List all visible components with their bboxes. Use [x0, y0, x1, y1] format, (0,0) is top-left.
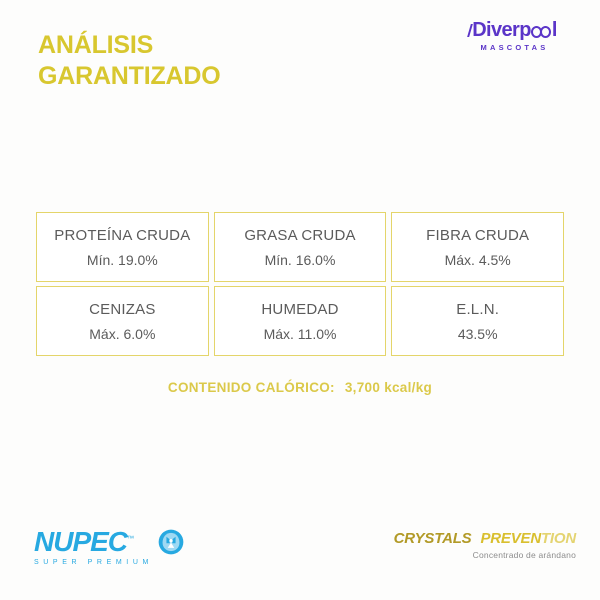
analysis-cell-moisture: HUMEDAD Máx. 11.0%	[214, 286, 387, 356]
page-title: ANÁLISIS GARANTIZADO	[38, 30, 221, 91]
analysis-cell-ash: CENIZAS Máx. 6.0%	[36, 286, 209, 356]
guaranteed-analysis-table: PROTEÍNA CRUDA Mín. 19.0% GRASA CRUDA Mí…	[36, 212, 564, 356]
nupec-word-text: NUPEC	[34, 526, 127, 557]
analysis-cell-eln: E.L.N. 43.5%	[391, 286, 564, 356]
diverpool-wordmark: Diverpl	[469, 20, 557, 40]
nupec-logo: NUPEC™ SUPER PREMIUM	[34, 528, 184, 566]
cell-label: FIBRA CRUDA	[426, 227, 529, 244]
cell-value: Mín. 16.0%	[265, 252, 336, 268]
crystals-wordmark: CRYSTALSPREVENTION	[394, 530, 576, 547]
analysis-cell-fiber: FIBRA CRUDA Máx. 4.5%	[391, 212, 564, 282]
diverpool-logo: Diverpl MASCOTAS	[448, 20, 578, 52]
prevention-word-part-2: TION	[541, 530, 576, 547]
cell-value: Máx. 11.0%	[264, 326, 337, 342]
nupec-wordmark: NUPEC™	[34, 528, 153, 556]
diverpool-subtitle: MASCOTAS	[451, 43, 578, 52]
prevention-word-part-1: PREVEN	[480, 530, 541, 547]
diverpool-name-part-2: l	[552, 19, 557, 41]
cell-value: Máx. 4.5%	[445, 252, 511, 268]
cell-label: E.L.N.	[456, 301, 499, 318]
cell-label: HUMEDAD	[261, 301, 338, 318]
cell-label: GRASA CRUDA	[244, 227, 355, 244]
caloric-label: CONTENIDO CALÓRICO:	[168, 380, 335, 395]
table-row: PROTEÍNA CRUDA Mín. 19.0% GRASA CRUDA Mí…	[36, 212, 564, 282]
analysis-cell-fat: GRASA CRUDA Mín. 16.0%	[214, 212, 387, 282]
nupec-subtitle: SUPER PREMIUM	[34, 559, 153, 566]
crystals-word: CRYSTALS	[394, 530, 472, 547]
crystals-prevention-logo: CRYSTALSPREVENTION Concentrado de aránda…	[394, 530, 576, 560]
cell-value: Mín. 19.0%	[87, 252, 158, 268]
caloric-content: CONTENIDO CALÓRICO:3,700 kcal/kg	[0, 380, 600, 395]
crystals-subtitle: Concentrado de arándano	[394, 550, 576, 560]
caloric-value: 3,700 kcal/kg	[345, 380, 432, 395]
nupec-dog-emblem-icon	[158, 529, 184, 555]
nupec-text-block: NUPEC™ SUPER PREMIUM	[34, 528, 153, 566]
cell-label: CENIZAS	[89, 301, 155, 318]
diverpool-name-part-1: Diverp	[472, 19, 531, 41]
table-row: CENIZAS Máx. 6.0% HUMEDAD Máx. 11.0% E.L…	[36, 286, 564, 356]
cell-value: Máx. 6.0%	[89, 326, 155, 342]
analysis-cell-protein: PROTEÍNA CRUDA Mín. 19.0%	[36, 212, 209, 282]
cell-value: 43.5%	[458, 326, 498, 342]
poster-canvas: ANÁLISIS GARANTIZADO Diverpl MASCOTAS PR…	[0, 0, 600, 600]
paw-icon	[531, 24, 552, 38]
cell-label: PROTEÍNA CRUDA	[54, 227, 190, 244]
trademark-icon: ™	[127, 536, 133, 543]
